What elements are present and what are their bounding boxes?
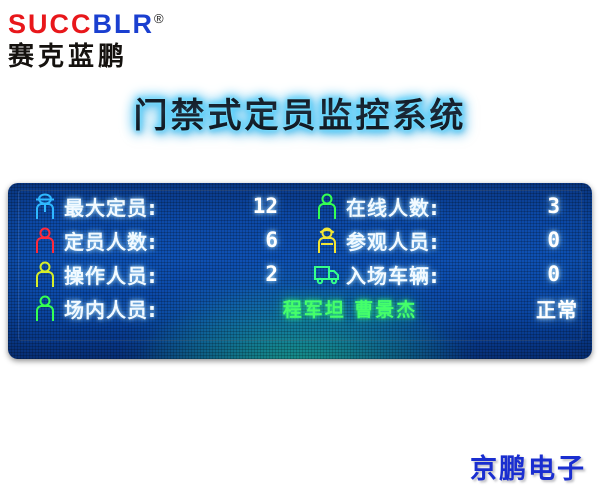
led-row-right-group: 入场车辆: 0: [302, 260, 584, 289]
led-value: 0: [496, 228, 560, 252]
led-value: 0: [496, 262, 560, 286]
company-logo: SUCCBLR® 赛克蓝鹏: [8, 4, 228, 74]
logo-text-blr: BLR: [93, 9, 155, 39]
logo-latin-text: SUCCBLR®: [8, 4, 228, 39]
led-value: 3: [496, 194, 560, 218]
led-row-right-group: 参观人员: 0: [302, 226, 584, 255]
led-label: 定员人数:: [64, 226, 214, 255]
led-row-occupants: 场内人员: 程军坦 曹景杰 正常: [8, 291, 592, 325]
registered-trademark-icon: ®: [154, 11, 164, 26]
led-label: 最大定员:: [64, 192, 214, 221]
person-icon: [26, 227, 64, 253]
led-row-left-group: 最大定员: 12: [26, 192, 302, 221]
led-display-panel: 最大定员: 12 在线人数: 3: [8, 183, 592, 359]
led-row-right-group: 在线人数: 3: [302, 192, 584, 221]
led-row: 定员人数: 6 参观人员: 0: [8, 223, 592, 257]
led-value: 2: [214, 262, 278, 286]
led-label: 操作人员:: [64, 260, 214, 289]
page-title: 门禁式定员监控系统: [0, 88, 600, 137]
led-label: 参观人员:: [346, 226, 496, 255]
led-row: 操作人员: 2 入场车辆: 0: [8, 257, 592, 291]
person-icon: [26, 295, 64, 321]
status-badge: 正常: [486, 294, 578, 323]
led-label: 入场车辆:: [346, 260, 496, 289]
led-row: 最大定员: 12 在线人数: 3: [8, 189, 592, 223]
occupant-names: 程军坦 曹景杰: [214, 295, 486, 322]
led-row-left-group: 定员人数: 6: [26, 226, 302, 255]
person-icon: [308, 193, 346, 219]
truck-icon: [308, 263, 346, 285]
person-cap-icon: [308, 227, 346, 253]
led-row-left-group: 操作人员: 2: [26, 260, 302, 289]
led-content: 最大定员: 12 在线人数: 3: [8, 189, 592, 339]
led-label-occupants: 场内人员:: [64, 294, 214, 323]
logo-text-succ: SUCC: [8, 9, 93, 39]
led-value: 6: [214, 228, 278, 252]
person-hardhat-icon: [26, 193, 64, 219]
logo-chinese-text: 赛克蓝鹏: [8, 41, 228, 73]
footer-brand: 京鹏电子: [470, 447, 586, 486]
person-icon: [26, 261, 64, 287]
led-value: 12: [214, 194, 278, 218]
led-label: 在线人数:: [346, 192, 496, 221]
